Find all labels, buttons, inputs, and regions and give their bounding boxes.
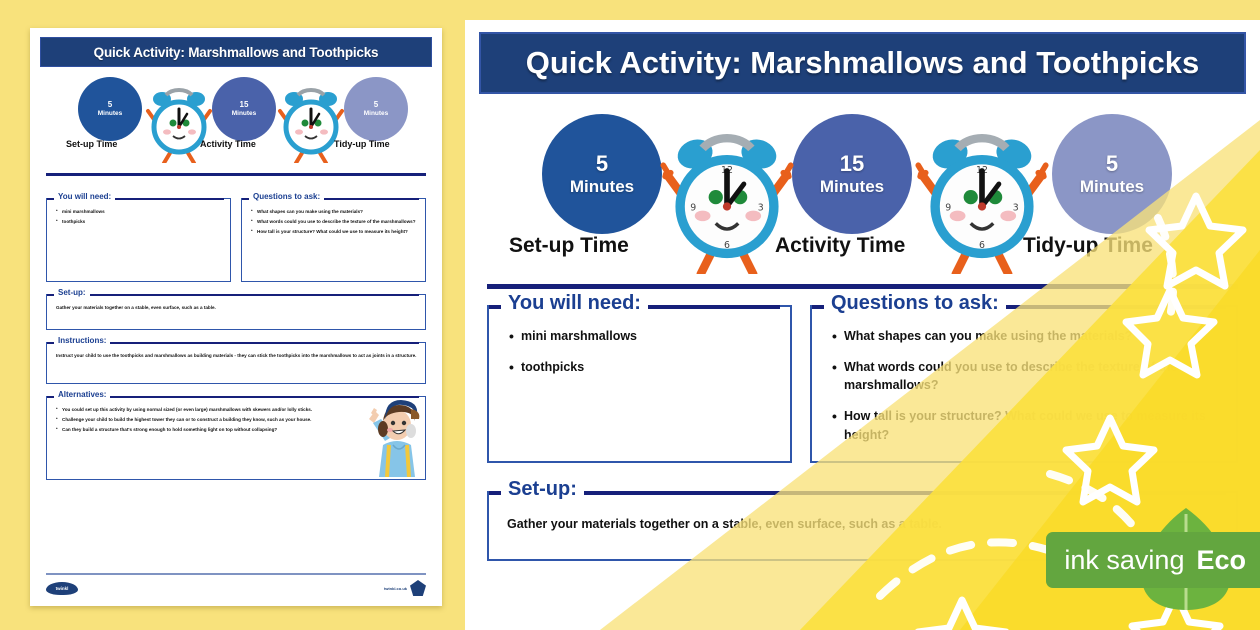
timing-number: 5 [108,101,112,110]
timing-label-tidyup: Tidy-up Time [1023,234,1153,258]
thumbnail-timing-circle-setup: 5 Minutes [78,77,142,141]
thumbnail-section-you-will-need: You will need: mini marshmallows toothpi… [46,198,231,282]
legend-rule [489,491,1226,495]
section-heading: Set-up: [54,288,90,297]
section-heading: You will need: [501,292,648,315]
section-text: Gather your materials together on a stab… [507,515,1222,533]
thumbnail-timing-label-setup: Set-up Time [66,139,117,149]
thumbnail-section-alternatives: Alternatives: You could set up this acti… [46,396,426,480]
alarm-clock-icon [276,83,346,163]
list-item: toothpicks [507,358,776,376]
eco-badge-label: Eco [1196,545,1246,576]
thumbnail-footer: twinkl twinkl.co.uk [46,573,426,596]
timing-row: 5 Minutes 15 Minutes 5 Minutes 123 [487,110,1238,278]
section-heading: Questions to ask: [249,192,324,201]
thumbnail-page-preview[interactable]: Quick Activity: Marshmallows and Toothpi… [30,28,442,606]
list-item: You could set up this activity by using … [56,406,317,413]
thumbnail-timing-circle-tidyup: 5 Minutes [344,77,408,141]
thumbnail-timing-label-activity: Activity Time [200,139,256,149]
timing-number: 5 [374,101,378,110]
thumbnail-timing-label-tidyup: Tidy-up Time [334,139,390,149]
svg-text:6: 6 [979,240,985,251]
section-heading: Set-up: [501,478,584,501]
section-text: Gather your materials together on a stab… [56,304,418,311]
eco-badge-text: ink saving [1064,545,1184,576]
section-heading: You will need: [54,192,115,201]
section-heading: Questions to ask: [824,292,1006,315]
timing-unit: Minutes [364,110,389,117]
footer-url: twinkl.co.uk [384,586,407,591]
thumbnail-title-banner: Quick Activity: Marshmallows and Toothpi… [40,37,432,67]
timing-unit: Minutes [570,177,634,197]
list-item: What words could you use to describe the… [830,358,1222,394]
page-title: Quick Activity: Marshmallows and Toothpi… [526,45,1200,81]
thumbnail-page-title: Quick Activity: Marshmallows and Toothpi… [94,45,379,60]
list-item: What shapes can you make using the mater… [251,208,418,215]
thumbnail-section-setup: Set-up: Gather your materials together o… [46,294,426,330]
timing-number: 15 [840,151,864,177]
timing-circle-setup: 5 Minutes [542,114,662,234]
svg-text:9: 9 [945,202,951,213]
timing-number: 5 [596,151,608,177]
thumbnail-section-instructions: Instructions: Instruct your child to use… [46,342,426,384]
timing-unit: Minutes [232,110,257,117]
svg-text:3: 3 [1013,202,1019,213]
list-item: How tall is your structure? What could w… [251,228,418,235]
section-heading: Instructions: [54,336,110,345]
thumbnail-section-questions: Questions to ask: What shapes can you ma… [241,198,426,282]
svg-text:9: 9 [690,202,696,213]
main-title-banner: Quick Activity: Marshmallows and Toothpi… [479,32,1246,94]
thumbnail-timing-circle-activity: 15 Minutes [212,77,276,141]
section-questions: Questions to ask: What shapes can you ma… [810,305,1238,463]
list-item: Can they build a structure that's strong… [56,426,317,433]
legend-rule [47,294,419,296]
list-item: What words could you use to describe the… [251,218,418,225]
thumbnail-timing-row: 5 Minutes 15 Minutes 5 Minutes [44,75,428,167]
timing-label-activity: Activity Time [775,234,905,258]
alarm-clock-icon [144,83,214,163]
eco-badge: ink saving Eco [1046,532,1260,588]
list-item: toothpicks [56,218,223,225]
section-you-will-need: You will need: mini marshmallows toothpi… [487,305,792,463]
timing-circle-activity: 15 Minutes [792,114,912,234]
brand-logo: twinkl [46,582,78,595]
list-item: mini marshmallows [56,208,223,215]
section-text: Instruct your child to use the toothpick… [56,352,418,359]
timing-unit: Minutes [820,177,884,197]
list-item: How tall is your structure? What could w… [830,407,1222,443]
svg-text:6: 6 [724,240,730,251]
girl-pointing-icon [361,397,421,477]
list-item: Challenge your child to build the highes… [56,416,317,423]
brand-mark-icon [410,580,426,596]
list-item: What shapes can you make using the mater… [830,327,1222,345]
timing-number: 5 [1106,151,1118,177]
timing-unit: Minutes [1080,177,1144,197]
section-heading: Alternatives: [54,390,110,399]
timing-number: 15 [240,101,249,110]
list-item: mini marshmallows [507,327,776,345]
timing-circle-tidyup: 5 Minutes [1052,114,1172,234]
timing-label-setup: Set-up Time [509,234,629,258]
svg-text:3: 3 [758,202,764,213]
timing-unit: Minutes [98,110,123,117]
